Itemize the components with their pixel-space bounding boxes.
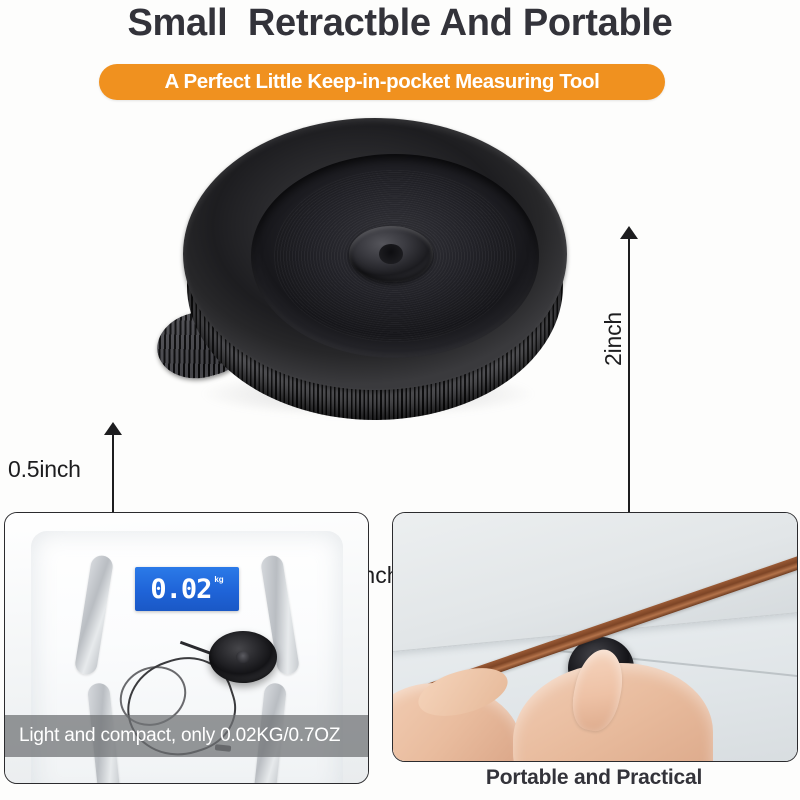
panel-weight-demo: 0.02 kg Light and compact, only 0.02KG/0… [4,512,369,784]
disc-top-face [183,118,567,390]
panel-portability-demo [392,512,798,762]
page-title: Small Retractble And Portable [0,2,800,45]
scale-lcd-display: 0.02 kg [135,567,239,611]
lcd-weight-value: 0.02 [150,576,211,603]
scale-electrode [74,554,115,676]
lcd-weight-unit: kg [214,575,223,584]
tape-measure-on-scale [209,631,277,683]
portability-caption: Portable and Practical [392,766,796,790]
tagline-badge: A Perfect Little Keep-in-pocket Measurin… [99,64,665,100]
arrow-shaft [628,235,630,535]
dimension-arrow-depth [619,226,639,544]
retract-button [349,226,433,282]
weight-caption-text: Light and compact, only 0.02KG/0.7OZ [5,725,340,747]
product-image-tape-measure [163,116,583,436]
weight-caption-bar: Light and compact, only 0.02KG/0.7OZ [5,715,368,757]
dimension-label-height: 0.5inch [8,456,81,483]
hero-product-section: 0.5inch 2inch 2inch [0,104,800,504]
dimension-arrow-height [103,422,123,526]
tagline-text: A Perfect Little Keep-in-pocket Measurin… [165,70,600,94]
arrow-shaft [112,431,114,517]
